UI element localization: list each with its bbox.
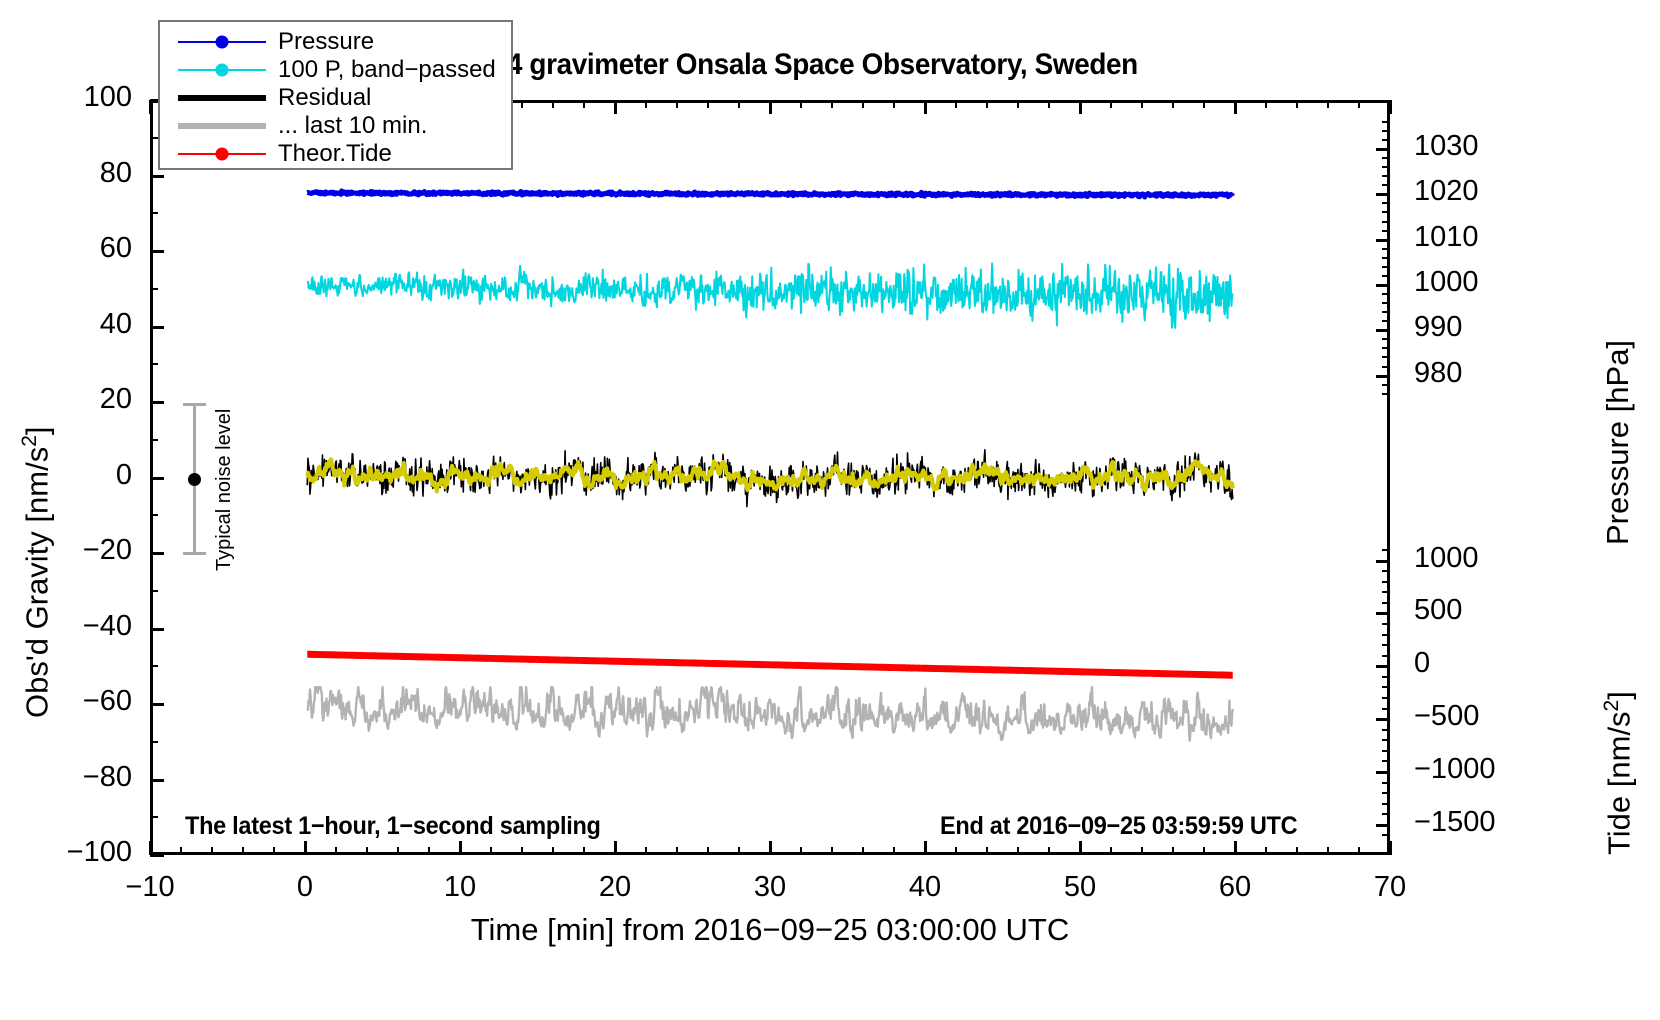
x-tick-minor [1172, 847, 1174, 855]
x-top-tick-major [1079, 100, 1082, 114]
y-tick-major [150, 703, 164, 706]
pressure-tick-minor [1382, 393, 1390, 395]
tide-tick-minor [1382, 591, 1390, 593]
legend-label: 100 P, band−passed [278, 56, 496, 84]
x-tick-label: 50 [1010, 871, 1150, 904]
x-tick-minor [738, 847, 740, 855]
x-tick-minor [1017, 847, 1019, 855]
x-top-tick-minor [893, 100, 895, 108]
y-tick-label: 20 [20, 383, 132, 416]
tide-tick-minor [1382, 813, 1390, 815]
pressure-tick-minor [1382, 275, 1390, 277]
x-tick-minor [397, 847, 399, 855]
legend-label: Residual [278, 84, 371, 112]
y-tick-major [150, 250, 164, 253]
y-tick-major [150, 175, 164, 178]
y-tick-minor [150, 137, 158, 139]
tide-tick-minor [1382, 549, 1390, 551]
pressure-tick-minor [1382, 221, 1390, 223]
noise-center-dot [188, 473, 201, 486]
pressure-tick-minor [1382, 266, 1390, 268]
x-tick-major [149, 841, 152, 855]
data-traces [153, 103, 1387, 852]
pressure-tick-major [1376, 193, 1390, 196]
x-top-tick-minor [1296, 100, 1298, 108]
x-tick-minor [1265, 847, 1267, 855]
tide-tick-minor [1382, 655, 1390, 657]
x-tick-minor [242, 847, 244, 855]
x-top-tick-major [1389, 100, 1392, 114]
pressure-tick-major [1376, 329, 1390, 332]
y-axis-title-gravity-sup: 2 [18, 435, 41, 447]
tide-tick-label: 1000 [1414, 542, 1479, 575]
legend-item: Residual [160, 84, 511, 111]
pressure-tick-label: 990 [1414, 311, 1462, 344]
tide-tick-minor [1382, 581, 1390, 583]
x-top-tick-minor [676, 100, 678, 108]
x-top-tick-minor [552, 100, 554, 108]
pressure-tick-minor [1382, 356, 1390, 358]
y-tick-major [150, 854, 164, 857]
pressure-tick-minor [1382, 366, 1390, 368]
trace-pressure-bandpassed [307, 263, 1233, 328]
x-top-tick-minor [583, 100, 585, 108]
pressure-tick-minor [1382, 384, 1390, 386]
pressure-tick-minor [1382, 202, 1390, 204]
tide-tick-label: −1500 [1414, 806, 1495, 839]
x-top-tick-minor [521, 100, 523, 108]
tide-tick-minor [1382, 644, 1390, 646]
x-tick-label: −10 [80, 871, 220, 904]
tide-tick-minor [1382, 570, 1390, 572]
tide-tick-minor [1382, 792, 1390, 794]
pressure-tick-label: 1030 [1414, 130, 1479, 163]
y-axis-title-pressure: Pressure [hPa] [1600, 340, 1636, 545]
trace-theoretical-tide [307, 654, 1233, 675]
y-tick-label: −80 [20, 761, 132, 794]
x-top-tick-minor [1017, 100, 1019, 108]
end-time-note: End at 2016−09−25 03:59:59 UTC [940, 812, 1297, 841]
y-tick-minor [150, 288, 158, 290]
x-top-tick-minor [1141, 100, 1143, 108]
x-top-tick-minor [1358, 100, 1360, 108]
legend-key-1 [178, 56, 266, 83]
sampling-note: The latest 1−hour, 1−second sampling [185, 812, 601, 841]
x-tick-label: 20 [545, 871, 685, 904]
legend-key-2 [178, 84, 266, 111]
x-tick-minor [335, 847, 337, 855]
tide-tick-minor [1382, 739, 1390, 741]
y-tick-major [150, 326, 164, 329]
x-tick-minor [862, 847, 864, 855]
tide-tick-label: −1000 [1414, 753, 1495, 786]
tide-tick-minor [1382, 676, 1390, 678]
x-tick-minor [800, 847, 802, 855]
x-tick-major [304, 841, 307, 855]
x-tick-minor [676, 847, 678, 855]
pressure-tick-minor [1382, 121, 1390, 123]
x-tick-minor [1327, 847, 1329, 855]
y-tick-major [150, 628, 164, 631]
x-top-tick-minor [955, 100, 957, 108]
x-top-tick-major [149, 100, 152, 114]
legend-key-3 [178, 112, 266, 139]
legend-item: 100 P, band−passed [160, 56, 511, 83]
x-top-tick-major [769, 100, 772, 114]
x-top-tick-major [924, 100, 927, 114]
x-top-tick-major [1234, 100, 1237, 114]
x-tick-label: 70 [1320, 871, 1460, 904]
x-tick-label: 40 [855, 871, 995, 904]
tide-tick-major [1376, 718, 1390, 721]
x-tick-minor [1141, 847, 1143, 855]
legend-item: Pressure [160, 28, 511, 55]
plot-area [150, 100, 1390, 855]
x-tick-minor [273, 847, 275, 855]
noise-cap-bottom [183, 552, 206, 555]
x-top-tick-minor [986, 100, 988, 108]
pressure-tick-major [1376, 239, 1390, 242]
x-top-tick-minor [707, 100, 709, 108]
pressure-tick-major [1376, 284, 1390, 287]
legend-key-0 [178, 28, 266, 55]
x-top-tick-minor [1048, 100, 1050, 108]
x-top-tick-minor [738, 100, 740, 108]
tide-tick-label: −500 [1414, 700, 1479, 733]
legend-line-icon [178, 95, 266, 101]
y-tick-major [150, 552, 164, 555]
tide-tick-minor [1382, 750, 1390, 752]
tide-tick-major [1376, 824, 1390, 827]
y-tick-minor [150, 741, 158, 743]
pressure-tick-minor [1382, 248, 1390, 250]
x-tick-label: 0 [235, 871, 375, 904]
pressure-tick-minor [1382, 139, 1390, 141]
y-axis-title-gravity: Obs'd Gravity [nm/s2] [18, 426, 55, 718]
y-tick-label: −100 [20, 836, 132, 869]
x-tick-minor [986, 847, 988, 855]
pressure-tick-label: 1020 [1414, 175, 1479, 208]
legend-key-4 [178, 140, 266, 167]
x-tick-minor [211, 847, 213, 855]
x-tick-major [614, 841, 617, 855]
x-top-tick-minor [862, 100, 864, 108]
x-tick-minor [366, 847, 368, 855]
tide-tick-minor [1382, 760, 1390, 762]
x-tick-minor [552, 847, 554, 855]
noise-level-label: Typical noise level [213, 409, 236, 571]
tide-tick-minor [1382, 708, 1390, 710]
pressure-tick-minor [1382, 211, 1390, 213]
tide-tick-minor [1382, 697, 1390, 699]
x-tick-major [459, 841, 462, 855]
tide-tick-minor [1382, 834, 1390, 836]
noise-cap-top [183, 403, 206, 406]
legend-marker-dot [216, 63, 229, 76]
pressure-tick-minor [1382, 175, 1390, 177]
x-tick-major [769, 841, 772, 855]
x-tick-minor [1296, 847, 1298, 855]
pressure-tick-label: 1000 [1414, 266, 1479, 299]
tide-tick-major [1376, 560, 1390, 563]
tide-tick-minor [1382, 623, 1390, 625]
pressure-tick-minor [1382, 130, 1390, 132]
tide-tick-minor [1382, 803, 1390, 805]
pressure-tick-minor [1382, 320, 1390, 322]
y-tick-minor [150, 816, 158, 818]
trace-last-10-min [307, 687, 1233, 740]
y-tick-minor [150, 212, 158, 214]
legend-label: Pressure [278, 28, 374, 56]
x-tick-minor [831, 847, 833, 855]
y-axis-title-tide: Tide [nm/s2] [1600, 691, 1637, 855]
y-axis-title-gravity-close: ] [19, 426, 54, 435]
tide-tick-minor [1382, 686, 1390, 688]
x-tick-minor [428, 847, 430, 855]
x-top-tick-major [614, 100, 617, 114]
pressure-tick-label: 980 [1414, 357, 1462, 390]
x-tick-minor [490, 847, 492, 855]
y-tick-label: 80 [20, 157, 132, 190]
y-axis-title-tide-close: ] [1601, 691, 1636, 700]
pressure-tick-minor [1382, 293, 1390, 295]
tide-tick-minor [1382, 729, 1390, 731]
tide-tick-minor [1382, 634, 1390, 636]
y-axis-title-tide-text: Tide [nm/s [1601, 711, 1636, 855]
x-axis-title: Time [min] from 2016−09−25 03:00:00 UTC [150, 912, 1390, 948]
x-tick-minor [1358, 847, 1360, 855]
pressure-tick-minor [1382, 338, 1390, 340]
x-tick-minor [707, 847, 709, 855]
typical-noise-level-annotation: Typical noise level [175, 403, 255, 573]
tide-tick-major [1376, 771, 1390, 774]
y-tick-major [150, 477, 164, 480]
pressure-tick-minor [1382, 302, 1390, 304]
trace-pressure [307, 191, 1233, 197]
pressure-tick-minor [1382, 184, 1390, 186]
x-tick-label: 30 [700, 871, 840, 904]
y-tick-minor [150, 514, 158, 516]
tide-tick-major [1376, 612, 1390, 615]
x-tick-minor [180, 847, 182, 855]
y-tick-major [150, 401, 164, 404]
tide-tick-major [1376, 665, 1390, 668]
legend-label: Theor.Tide [278, 140, 392, 168]
pressure-tick-minor [1382, 166, 1390, 168]
x-top-tick-minor [1327, 100, 1329, 108]
x-tick-minor [955, 847, 957, 855]
tide-tick-minor [1382, 782, 1390, 784]
x-tick-minor [1048, 847, 1050, 855]
y-tick-minor [150, 665, 158, 667]
x-tick-minor [1203, 847, 1205, 855]
x-top-tick-minor [1203, 100, 1205, 108]
x-top-tick-minor [800, 100, 802, 108]
y-tick-minor [150, 590, 158, 592]
y-tick-minor [150, 363, 158, 365]
x-tick-minor [893, 847, 895, 855]
legend: Pressure100 P, band−passedResidual... la… [158, 20, 513, 170]
legend-line-icon [178, 123, 266, 129]
x-tick-major [1234, 841, 1237, 855]
pressure-tick-major [1376, 375, 1390, 378]
y-tick-minor [150, 439, 158, 441]
pressure-tick-minor [1382, 311, 1390, 313]
y-axis-title-tide-sup: 2 [1600, 700, 1623, 712]
x-top-tick-minor [831, 100, 833, 108]
legend-marker-dot [216, 147, 229, 160]
x-tick-major [1389, 841, 1392, 855]
pressure-tick-minor [1382, 257, 1390, 259]
y-tick-major [150, 779, 164, 782]
x-top-tick-minor [1265, 100, 1267, 108]
y-tick-label: 60 [20, 232, 132, 265]
legend-marker-dot [216, 35, 229, 48]
x-tick-label: 10 [390, 871, 530, 904]
legend-label: ... last 10 min. [278, 112, 427, 140]
legend-item: ... last 10 min. [160, 112, 511, 139]
x-tick-minor [583, 847, 585, 855]
legend-item: Theor.Tide [160, 140, 511, 167]
pressure-tick-minor [1382, 157, 1390, 159]
x-top-tick-minor [1110, 100, 1112, 108]
pressure-tick-major [1376, 148, 1390, 151]
x-tick-label: 60 [1165, 871, 1305, 904]
x-tick-minor [1110, 847, 1112, 855]
x-top-tick-minor [1172, 100, 1174, 108]
x-tick-major [924, 841, 927, 855]
pressure-tick-minor [1382, 347, 1390, 349]
tide-tick-label: 0 [1414, 647, 1430, 680]
y-tick-label: 40 [20, 308, 132, 341]
pressure-tick-label: 1010 [1414, 221, 1479, 254]
tide-tick-minor [1382, 602, 1390, 604]
tide-tick-label: 500 [1414, 594, 1462, 627]
y-axis-title-gravity-text: Obs'd Gravity [nm/s [19, 447, 54, 718]
pressure-tick-minor [1382, 230, 1390, 232]
x-tick-minor [521, 847, 523, 855]
x-tick-minor [645, 847, 647, 855]
x-top-tick-minor [645, 100, 647, 108]
x-tick-major [1079, 841, 1082, 855]
y-tick-label: 100 [20, 81, 132, 114]
